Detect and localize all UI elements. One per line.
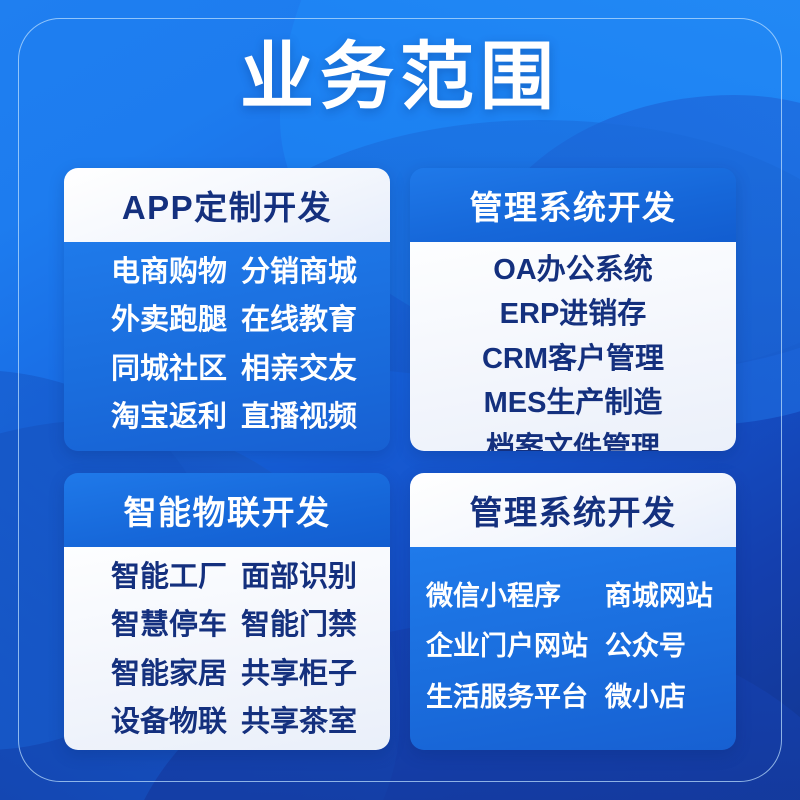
page-title: 业务范围 [0, 36, 800, 119]
list-item[interactable]: 淘宝返利 直播视频 [74, 393, 380, 441]
service-item: MES生产制造 [420, 388, 726, 418]
service-card-grid: APP定制开发 电商购物 分销商城 外卖跑腿 在线教育 同城社区 相亲交友 [64, 168, 736, 750]
service-card-app-development[interactable]: APP定制开发 电商购物 分销商城 外卖跑腿 在线教育 同城社区 相亲交友 [64, 168, 390, 451]
service-card-management-systems[interactable]: 管理系统开发 OA办公系统 ERP进销存 CRM客户管理 MES生产制造 [410, 168, 736, 451]
card-title-management-systems: 管理系统开发 [410, 168, 736, 242]
service-item: 公众号 [597, 632, 726, 660]
list-item[interactable]: 智慧停车 智能门禁 [74, 601, 380, 649]
service-item: 面部识别 [227, 562, 373, 592]
card-title-web-development: 管理系统开发 [410, 473, 736, 547]
service-item: 微信小程序 [420, 582, 597, 610]
service-item: 档案文件管理 [420, 433, 726, 451]
card-body-app-development: 电商购物 分销商城 外卖跑腿 在线教育 同城社区 相亲交友 淘宝返利 直播视频 [64, 242, 390, 451]
service-item: 生活服务平台 [420, 683, 597, 711]
list-item[interactable]: MES生产制造 [420, 381, 726, 425]
service-item: 直播视频 [227, 402, 373, 432]
list-item[interactable]: OA办公系统 [420, 248, 726, 292]
service-item: OA办公系统 [420, 255, 726, 285]
list-item[interactable]: 同城社区 相亲交友 [74, 345, 380, 393]
card-body-management-systems: OA办公系统 ERP进销存 CRM客户管理 MES生产制造 档案文件管理 [410, 242, 736, 451]
card-body-iot-development: 智能工厂 面部识别 智慧停车 智能门禁 智能家居 共享柜子 设备物联 共享茶室 [64, 547, 390, 750]
service-item: 外卖跑腿 [81, 305, 227, 335]
service-item: ERP进销存 [420, 299, 726, 329]
list-item[interactable]: ERP进销存 [420, 292, 726, 336]
service-item: 共享茶室 [227, 707, 373, 737]
service-item: 企业门户网站 [420, 632, 597, 660]
service-item: 共享柜子 [227, 659, 373, 689]
service-item: 微小店 [597, 683, 726, 711]
service-item: 智能家居 [81, 659, 227, 689]
list-item[interactable]: 智能工厂 面部识别 [74, 553, 380, 601]
service-item: 商城网站 [597, 582, 726, 610]
service-item: 智慧停车 [81, 610, 227, 640]
list-item[interactable]: 智能家居 共享柜子 [74, 650, 380, 698]
list-item[interactable]: 外卖跑腿 在线教育 [74, 296, 380, 344]
poster-canvas: 业务范围 APP定制开发 电商购物 分销商城 外卖跑腿 在线教育 同城社区 [0, 0, 800, 800]
list-item[interactable]: 微信小程序 商城网站 [420, 571, 726, 621]
service-item: 设备物联 [81, 707, 227, 737]
service-item: CRM客户管理 [420, 344, 726, 374]
service-item: 智能门禁 [227, 610, 373, 640]
service-item: 电商购物 [81, 257, 227, 287]
service-item: 在线教育 [227, 305, 373, 335]
service-item: 淘宝返利 [81, 402, 227, 432]
list-item[interactable]: CRM客户管理 [420, 337, 726, 381]
card-title-iot-development: 智能物联开发 [64, 473, 390, 547]
card-title-app-development: APP定制开发 [64, 168, 390, 242]
service-card-iot-development[interactable]: 智能物联开发 智能工厂 面部识别 智慧停车 智能门禁 智能家居 共享柜子 [64, 473, 390, 750]
list-item[interactable]: 企业门户网站 公众号 [420, 621, 726, 671]
service-card-web-development[interactable]: 管理系统开发 微信小程序 商城网站 企业门户网站 公众号 生活服务平台 微小店 [410, 473, 736, 750]
list-item[interactable]: 设备物联 共享茶室 [74, 698, 380, 746]
list-item[interactable]: 档案文件管理 [420, 426, 726, 451]
service-item: 智能工厂 [81, 562, 227, 592]
service-item: 相亲交友 [227, 354, 373, 384]
list-item[interactable]: 电商购物 分销商城 [74, 248, 380, 296]
list-item[interactable]: 生活服务平台 微小店 [420, 672, 726, 722]
service-item: 分销商城 [227, 257, 373, 287]
card-body-web-development: 微信小程序 商城网站 企业门户网站 公众号 生活服务平台 微小店 [410, 547, 736, 750]
service-item: 同城社区 [81, 354, 227, 384]
